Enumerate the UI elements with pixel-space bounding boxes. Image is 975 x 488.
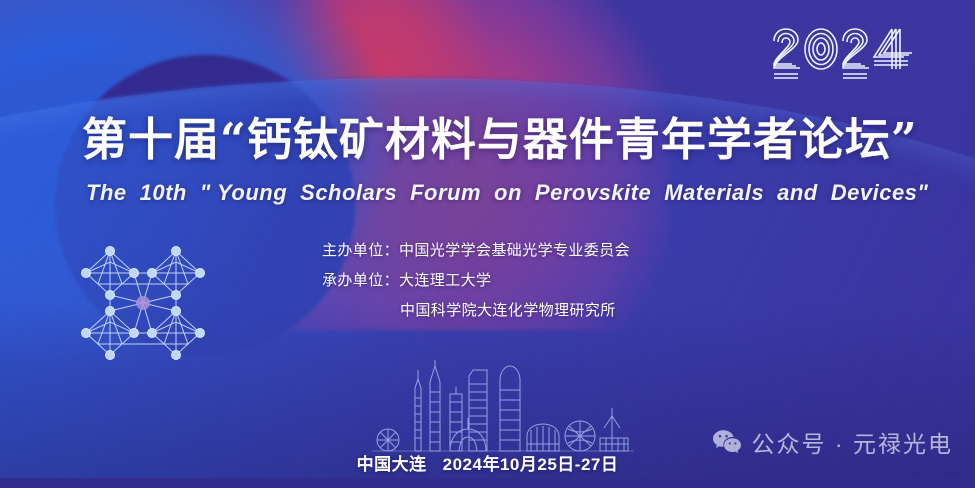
page-title-english: The10th" YoungScholarsForumonPerovskiteM… — [86, 178, 916, 208]
organizer-block: 主办单位：中国光学学会基础光学专业委员会 承办单位：大连理工大学 中国科学院大连… — [322, 236, 630, 326]
title-en-word-1: 10th — [140, 180, 187, 205]
title-en-word-5: on — [494, 180, 522, 205]
watermark-text: 公众号 · 元禄光电 — [752, 425, 953, 459]
wechat-icon — [712, 429, 742, 455]
title-en-word-3: Scholars — [300, 180, 397, 205]
title-en-word-6: Perovskite — [535, 180, 651, 205]
footer-date: 2024年10月25日-27日 — [443, 455, 619, 474]
title-en-word-2: " Young — [200, 180, 287, 205]
perovskite-lattice-icon — [72, 243, 220, 373]
title-en-word-9: Devices" — [831, 180, 929, 205]
footer-city: 中国大连 — [357, 455, 427, 474]
background-bottom-strip — [0, 478, 975, 488]
city-skyline-icon — [372, 358, 634, 454]
title-en-word-8: and — [777, 180, 818, 205]
organizer-line-cohost-1: 承办单位：大连理工大学 — [322, 266, 630, 296]
organizer-line-cohost-2: 中国科学院大连化学物理研究所 — [322, 296, 630, 326]
conference-poster: 第十届“钙钛矿材料与器件青年学者论坛” The10th" YoungSchola… — [0, 0, 975, 488]
page-title-chinese: 第十届“钙钛矿材料与器件青年学者论坛” — [82, 112, 912, 168]
watermark: 公众号 · 元禄光电 — [712, 425, 953, 459]
organizer-line-host: 主办单位：中国光学学会基础光学专业委员会 — [322, 236, 630, 266]
title-en-word-4: Forum — [410, 180, 481, 205]
title-en-word-0: The — [86, 180, 127, 205]
year-2024-logo — [770, 24, 915, 86]
title-en-word-7: Materials — [664, 180, 764, 205]
